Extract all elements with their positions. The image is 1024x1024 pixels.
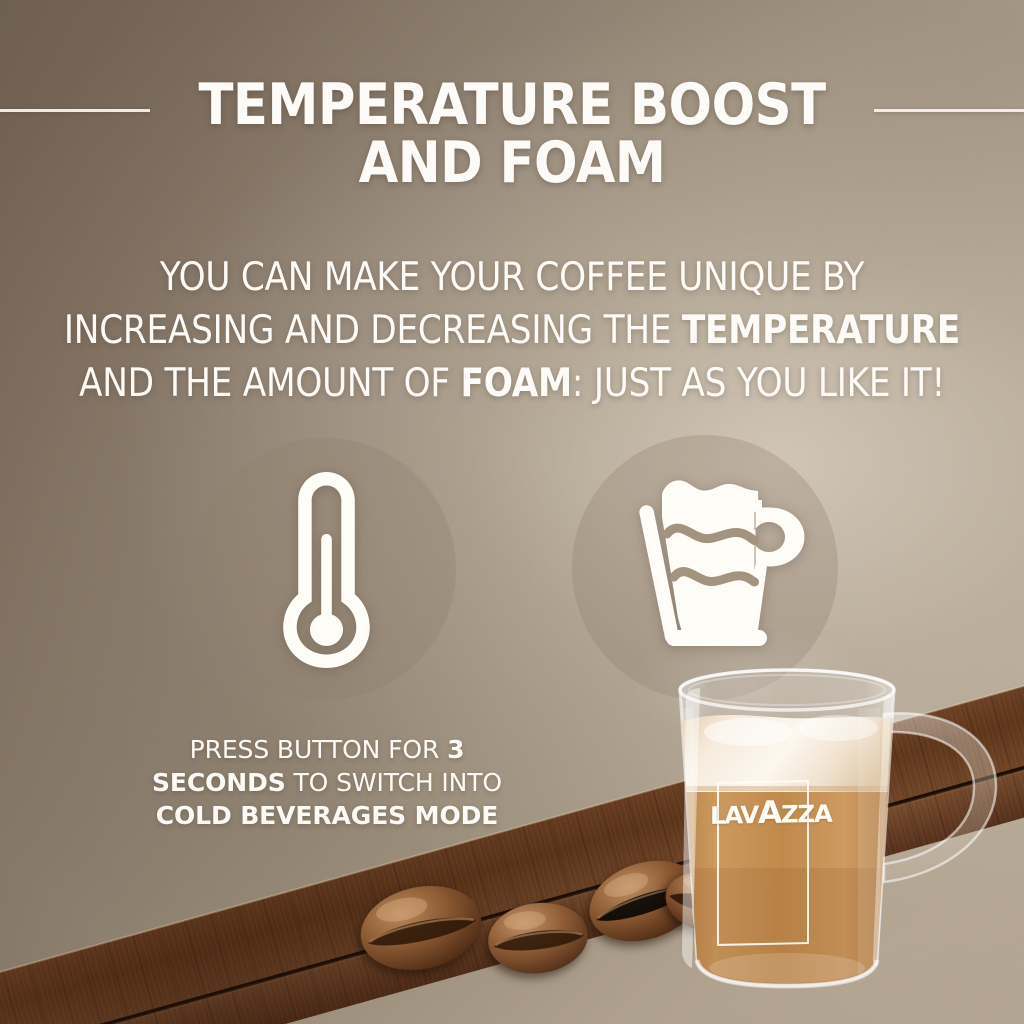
vignette: [0, 0, 1024, 1024]
promo-banner: TEMPERATURE BOOST AND FOAM YOU CAN MAKE …: [0, 0, 1024, 1024]
